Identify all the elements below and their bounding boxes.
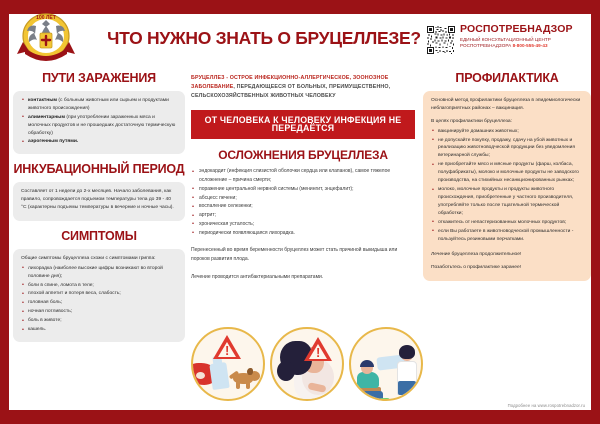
list-item: поражение центральной нервной системы (м…	[191, 185, 415, 194]
list-item: не приобретайте мясо и мясные продукты (…	[431, 161, 583, 185]
complications-list: эндокардит (инфекция слизистой оболочки …	[191, 167, 415, 237]
frame-top-border	[0, 0, 600, 14]
brand-texts: РОСПОТРЕБНАДЗОР ЕДИНЫЙ КОНСУЛЬТАЦИОННЫЙ …	[460, 24, 573, 50]
symptoms-list: лихорадка (наиболее высокие цифры возник…	[21, 265, 177, 335]
list-item: откажитесь от непастеризованных молочных…	[431, 219, 583, 227]
list-item: воспаление селезенки;	[191, 202, 415, 211]
section-title-transmission: ПУТИ ЗАРАЖЕНИЯ	[13, 72, 185, 86]
list-item: плохой аппетит и потеря веса, слабость;	[21, 290, 177, 298]
list-item: ночная потливость;	[21, 308, 177, 316]
frame-right-border	[591, 0, 600, 424]
patient-legs	[363, 391, 383, 401]
list-item: аэрогенным путями.	[21, 138, 177, 146]
bone-icon	[196, 372, 205, 379]
patient-body	[357, 372, 379, 388]
poster-canvas: 100 ЛЕТ ЧТО НУЖНО ЗНАТЬ О БРУЦЕЛЛЕЗЕ?	[9, 14, 591, 410]
rospotrebnadzor-emblem-icon: 100 ЛЕТ	[15, 6, 77, 68]
poster-root: 100 ЛЕТ ЧТО НУЖНО ЗНАТЬ О БРУЦЕЛЛЕЗЕ?	[0, 0, 600, 424]
list-item: хроническая усталость;	[191, 220, 415, 229]
brand-name: РОСПОТРЕБНАДЗОР	[460, 24, 573, 36]
prevention-list: вакцинируйте домашних животных; не допус…	[431, 128, 583, 244]
frame-bottom-border	[0, 410, 600, 424]
doctor-hair	[399, 345, 415, 359]
list-item: эндокардит (инфекция слизистой оболочки …	[191, 167, 415, 185]
transmission-term-2: аэрогенным путями.	[28, 139, 78, 144]
list-item: абсцесс печени;	[191, 194, 415, 203]
section-title-prevention: ПРОФИЛАКТИКА	[423, 72, 591, 86]
illustration-raw-meat-and-milk-with-dog: !	[191, 327, 265, 401]
transmission-term-1: алиментарным	[28, 115, 65, 120]
note-treatment: Лечение проводится антибактериальными пр…	[191, 273, 415, 282]
prevention-subintro: В целях профилактики бруцеллеза:	[431, 118, 583, 126]
dog-leg	[246, 381, 250, 389]
list-item: боли в спине, ломота в теле;	[21, 282, 177, 290]
prevention-intro: Основной метод профилактики бруцеллеза в…	[431, 97, 583, 113]
list-item: кашель.	[21, 326, 177, 334]
middle-column: БРУЦЕЛЛЕЗ - ОСТРОЕ ИНФЕКЦИОННО-АЛЛЕРГИЧЕ…	[191, 72, 415, 282]
patient-hair	[360, 360, 374, 367]
list-item: если Вы работаете в животноводческой про…	[431, 228, 583, 244]
emblem-years-text: 100 ЛЕТ	[36, 15, 56, 21]
list-item: вакцинируйте домашних животных;	[431, 128, 583, 136]
dog-ear	[247, 368, 253, 375]
card-prevention: Основной метод профилактики бруцеллеза в…	[423, 91, 591, 281]
milk-carton-icon	[209, 362, 229, 390]
list-item: молоко, молочные продукты и продукты жив…	[431, 186, 583, 218]
illustration-pregnant-woman: !	[270, 327, 344, 401]
list-item: лихорадка (наиболее высокие цифры возник…	[21, 265, 177, 281]
dog-icon	[229, 369, 259, 389]
list-item: боль в животе;	[21, 317, 177, 325]
list-item: контактным (с больным животным или сырье…	[21, 97, 177, 113]
section-title-symptoms: СИМПТОМЫ	[13, 230, 185, 244]
brand-subtitle: ЕДИНЫЙ КОНСУЛЬТАЦИОННЫЙ ЦЕНТР РОСПОТРЕБН…	[460, 37, 573, 50]
brand-subtitle-line2: РОСПОТРЕБНАДЗОРА	[460, 43, 511, 48]
right-column: ПРОФИЛАКТИКА Основной метод профилактики…	[423, 72, 591, 290]
section-title-incubation: ИНКУБАЦИОННЫЙ ПЕРИОД	[13, 163, 185, 177]
doctor-skirt	[398, 381, 416, 395]
prevention-outro-1: Лечение бруцеллеза продолжительное!	[431, 251, 583, 259]
section-title-complications: ОСЛОЖНЕНИЯ БРУЦЕЛЛЕЗА	[191, 149, 415, 162]
footer-source-note: Подробнее на www.rospotrebnadzor.ru	[508, 403, 585, 408]
symptoms-intro: Общие симптомы бруцеллеза схожи с симпто…	[21, 255, 177, 263]
doctor-shoe	[407, 396, 419, 401]
warning-exclamation: !	[316, 346, 320, 359]
left-column: ПУТИ ЗАРАЖЕНИЯ контактным (с больным жив…	[13, 72, 185, 351]
illustration-patient-with-doctor	[349, 327, 423, 401]
page-title: ЧТО НУЖНО ЗНАТЬ О БРУЦЕЛЛЕЗЕ?	[104, 30, 424, 48]
incubation-text: Составляет от 1 недели до 2-х месяцев. Н…	[21, 188, 177, 212]
banner-no-human-transmission: ОТ ЧЕЛОВЕКА К ЧЕЛОВЕКУ ИНФЕКЦИЯ НЕ ПЕРЕД…	[191, 110, 415, 140]
illustration-row: ! !	[191, 316, 423, 412]
brand-subtitle-line1: ЕДИНЫЙ КОНСУЛЬТАЦИОННЫЙ ЦЕНТР	[460, 37, 551, 42]
transmission-term-0: контактным	[28, 98, 57, 103]
brand-phone[interactable]: 8-800-555-49-43	[513, 43, 548, 48]
patient-shoe	[379, 398, 390, 401]
frame-left-border	[0, 0, 9, 424]
pregnant-hair-curl	[277, 361, 295, 381]
dog-leg	[236, 381, 240, 389]
card-incubation: Составляет от 1 недели до 2-х месяцев. Н…	[13, 182, 185, 221]
lead-paragraph: БРУЦЕЛЛЕЗ - ОСТРОЕ ИНФЕКЦИОННО-АЛЛЕРГИЧЕ…	[191, 74, 415, 101]
prevention-outro-2: Позаботьтесь о профилактике заранее!	[431, 264, 583, 272]
list-item: периодически появляющаяся лихорадка.	[191, 229, 415, 238]
list-item: не допускайте покупку, продажу, сдачу на…	[431, 137, 583, 161]
card-transmission: контактным (с больным животным или сырье…	[13, 91, 185, 155]
list-item: головная боль;	[21, 299, 177, 307]
list-item: алиментарным (при употреблении зараженны…	[21, 114, 177, 138]
list-item: артрит;	[191, 211, 415, 220]
note-pregnancy: Перенесенный во время беременности бруце…	[191, 246, 415, 264]
brand-block: РОСПОТРЕБНАДЗОР ЕДИНЫЙ КОНСУЛЬТАЦИОННЫЙ …	[427, 24, 591, 54]
qr-code-icon[interactable]	[427, 26, 455, 54]
card-symptoms: Общие симптомы бруцеллеза схожи с симпто…	[13, 249, 185, 342]
transmission-list: контактным (с больным животным или сырье…	[21, 97, 177, 147]
poster-header: 100 ЛЕТ ЧТО НУЖНО ЗНАТЬ О БРУЦЕЛЛЕЗЕ?	[9, 14, 591, 70]
warning-exclamation: !	[225, 344, 229, 357]
